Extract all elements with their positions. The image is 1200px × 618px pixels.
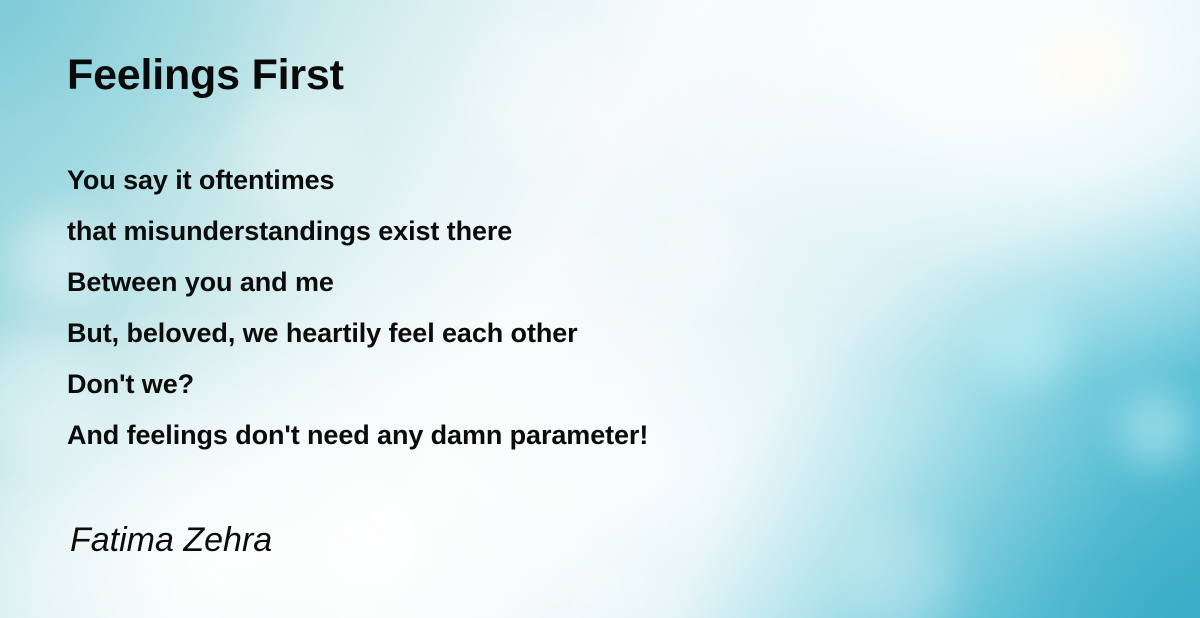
poem-line: that misunderstandings exist there (67, 206, 648, 257)
poem-line: And feelings don't need any damn paramet… (67, 410, 648, 461)
poem-line: But, beloved, we heartily feel each othe… (67, 308, 648, 359)
poem-image-card: Feelings First You say it oftentimes tha… (0, 0, 1200, 618)
poem-line: Don't we? (67, 359, 648, 410)
poem-author-name: Fatima Zehra (70, 519, 272, 561)
poem-body: You say it oftentimes that misunderstand… (67, 155, 648, 461)
poem-line: You say it oftentimes (67, 155, 648, 206)
poem-line: Between you and me (67, 257, 648, 308)
poem-title: Feelings First (67, 50, 344, 100)
poem-content: Feelings First You say it oftentimes tha… (67, 0, 1200, 618)
